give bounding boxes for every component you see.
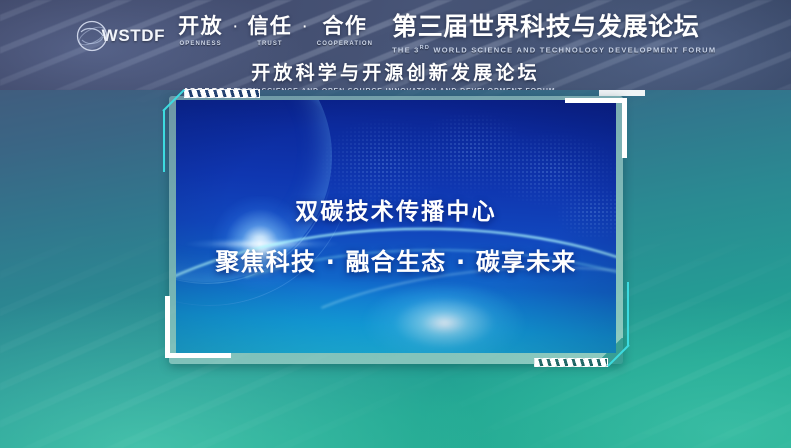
screen-text-block: 双碳技术传播中心 聚焦科技 · 融合生态 · 碳享未来: [176, 192, 616, 277]
slogan-cooperation: 合作 COOPERATION: [317, 15, 373, 47]
sub-forum-title-cn: 开放科学与开源创新发展论坛: [0, 58, 791, 85]
forum-main-title: 第三届世界科技与发展论坛 THE 3RD WORLD SCIENCE AND T…: [392, 14, 716, 54]
wstdf-logo: WSTDF: [75, 19, 165, 53]
corner-bracket-bottom-right: [533, 282, 629, 368]
forum-main-title-ordinal: RD: [420, 45, 430, 51]
slogan-trust-en: TRUST: [247, 41, 292, 47]
bracket-hatch-bottom-right: [534, 358, 608, 367]
forum-header-band: WSTDF 开放 OPENNESS · 信任 TRUST · 合作 COOPER…: [0, 0, 791, 90]
slogan-cooperation-en: COOPERATION: [317, 41, 373, 47]
slide-canvas: WSTDF 开放 OPENNESS · 信任 TRUST · 合作 COOPER…: [0, 0, 791, 448]
corner-bracket-top-left: [163, 88, 259, 172]
slogan-openness-en: OPENNESS: [178, 41, 223, 47]
presentation-display: 双碳技术传播中心 聚焦科技 · 融合生态 · 碳享未来: [163, 88, 629, 368]
slogan-separator-1: ·: [232, 16, 238, 39]
slogan-trust-cn: 信任: [247, 15, 292, 38]
slogan-separator-2: ·: [301, 16, 307, 39]
forum-main-title-en-post: WORLD SCIENCE AND TECHNOLOGY DEVELOPMENT…: [430, 45, 716, 54]
corner-bracket-bottom-left: [163, 290, 241, 368]
screen-tagline: 聚焦科技 · 融合生态 · 碳享未来: [176, 242, 616, 277]
wstdf-logo-text: WSTDF: [102, 26, 165, 46]
forum-main-title-cn: 第三届世界科技与发展论坛: [392, 14, 716, 41]
forum-main-title-en-pre: THE 3: [392, 45, 420, 54]
slogan-trust: 信任 TRUST: [247, 15, 292, 47]
wstdf-swirl-icon: [75, 19, 109, 53]
screen-headline: 双碳技术传播中心: [176, 192, 616, 226]
corner-bracket-top-right: [551, 88, 629, 166]
forum-main-title-en: THE 3RD WORLD SCIENCE AND TECHNOLOGY DEV…: [392, 45, 716, 55]
sub-forum-title: 开放科学与开源创新发展论坛 OPEN SCIENCE AND OPEN SOUR…: [0, 58, 791, 90]
forum-slogan-group: 开放 OPENNESS · 信任 TRUST · 合作 COOPERATION: [178, 15, 373, 47]
slogan-openness: 开放 OPENNESS: [178, 15, 223, 47]
header-title-row: WSTDF 开放 OPENNESS · 信任 TRUST · 合作 COOPER…: [0, 14, 791, 54]
slogan-cooperation-cn: 合作: [317, 15, 373, 38]
slogan-openness-cn: 开放: [178, 15, 223, 38]
bracket-hatch-top-left: [184, 89, 260, 98]
